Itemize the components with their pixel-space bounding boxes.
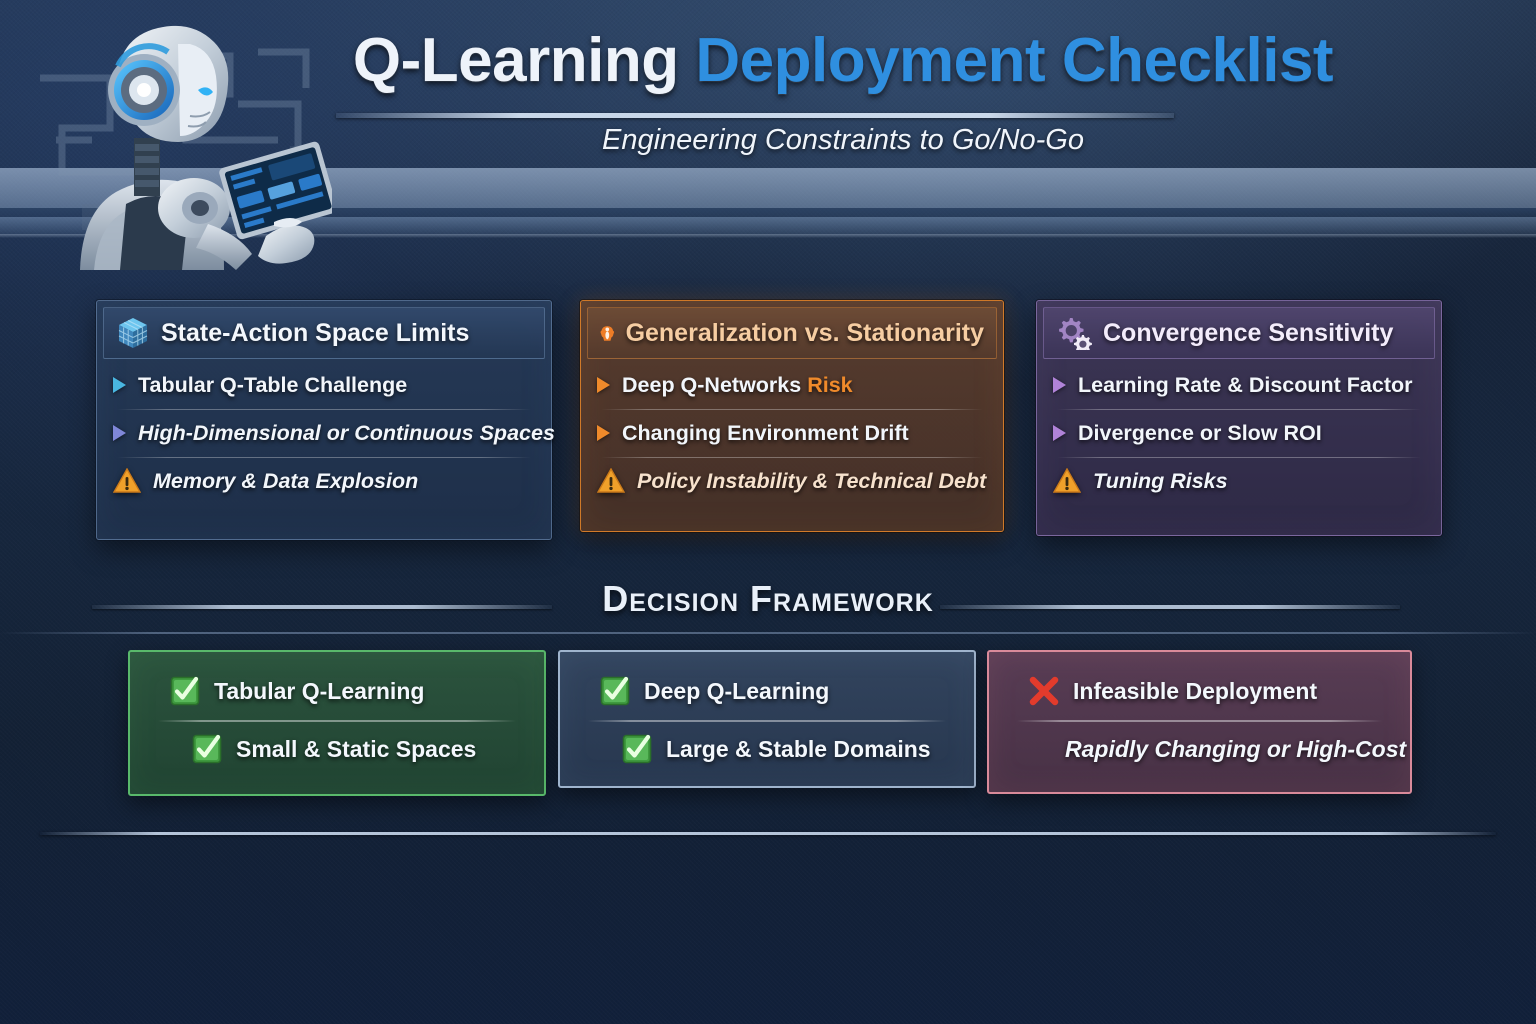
header-banner: Q-Learning Deployment Checklist Engineer… [0,0,1536,272]
list-item[interactable]: Tabular Q-Table Challenge [113,361,535,409]
warning-triangle-icon [1053,468,1081,494]
infographic-canvas: Q-Learning Deployment Checklist Engineer… [0,0,1536,1024]
page-subtitle: Engineering Constraints to Go/No-Go [0,124,1536,157]
card-convergence-sensitivity[interactable]: Convergence Sensitivity Learning Rate & … [1036,300,1442,536]
card-items: Learning Rate & Discount Factor Divergen… [1037,361,1441,529]
list-item-label: Tuning Risks [1093,469,1228,494]
warning-triangle-icon [597,468,625,494]
list-item-label: Memory & Data Explosion [153,469,418,494]
list-item[interactable]: Deep Q-Networks Risk [597,361,987,409]
green-check-box-icon [192,734,222,764]
list-item-label: Tabular Q-Table Challenge [138,373,407,398]
decision-card-tabular-q-learning[interactable]: Tabular Q-Learning Small & Static Spaces [128,650,546,796]
card-header: Generalization vs. Stationarity [587,307,997,359]
card-title: Convergence Sensitivity [1103,319,1393,348]
triangle-orange-icon [597,377,610,393]
green-check-box-icon [170,676,200,706]
page-title: Q-Learning Deployment Checklist [0,28,1536,93]
card-state-action-space-limits[interactable]: State-Action Space Limits Tabular Q-Tabl… [96,300,552,540]
card-title: Generalization vs. Stationarity [626,319,984,348]
list-item-label: Deep Q-Networks Risk [622,373,853,398]
title-secondary: Deployment Checklist [695,26,1333,95]
decision-row-label: Deep Q-Learning [644,678,829,705]
red-x-icon [1029,676,1059,706]
title-primary: Q-Learning [353,26,679,95]
highlight-risk: Risk [807,373,852,397]
triangle-orange-icon [597,425,610,441]
decision-framework-heading: Decision Framework [0,578,1536,636]
decision-card-infeasible-deployment[interactable]: Infeasible Deployment Rapidly Changing o… [987,650,1412,794]
list-item-label: High-Dimensional or Continuous Spaces [138,421,555,446]
list-item[interactable]: High-Dimensional or Continuous Spaces [113,409,535,457]
decision-row[interactable]: Small & Static Spaces [148,720,526,778]
gears-icon [1056,316,1092,350]
brain-icon [600,316,615,350]
constraint-cards-row: State-Action Space Limits Tabular Q-Tabl… [0,300,1536,548]
footer-divider [40,832,1496,835]
section-divider [0,632,1536,634]
decision-row[interactable]: Tabular Q-Learning [148,662,526,720]
list-item[interactable]: Divergence or Slow ROI [1053,409,1425,457]
triangle-violet-icon [1053,377,1066,393]
card-header: Convergence Sensitivity [1043,307,1435,359]
triangle-blue-icon [113,377,126,393]
decision-row[interactable]: Rapidly Changing or High-Cost [1007,720,1392,778]
decision-row-label: Tabular Q-Learning [214,678,424,705]
decision-row[interactable]: Large & Stable Domains [578,720,956,778]
decision-row-label: Infeasible Deployment [1073,678,1317,705]
section-title: Decision Framework [0,578,1536,620]
list-item[interactable]: Tuning Risks [1053,457,1425,505]
green-check-box-icon [600,676,630,706]
decision-cards-row: Tabular Q-Learning Small & Static Spaces [0,650,1536,802]
decision-row[interactable]: Deep Q-Learning [578,662,956,720]
list-item-label: Policy Instability & Technical Debt [637,469,986,494]
list-item-label: Divergence or Slow ROI [1078,421,1322,446]
decision-row-label: Rapidly Changing or High-Cost [1065,736,1406,763]
list-item-label: Changing Environment Drift [622,421,909,446]
decision-row-label: Small & Static Spaces [236,736,476,763]
triangle-violet-icon [1053,425,1066,441]
card-items: Tabular Q-Table Challenge High-Dimension… [97,361,551,533]
cube-icon [116,316,150,350]
green-check-box-icon [622,734,652,764]
card-generalization-vs-stationarity[interactable]: Generalization vs. Stationarity Deep Q-N… [580,300,1004,532]
card-header: State-Action Space Limits [103,307,545,359]
list-item[interactable]: Changing Environment Drift [597,409,987,457]
decision-card-deep-q-learning[interactable]: Deep Q-Learning Large & Stable Domains [558,650,976,788]
title-divider [336,113,1174,118]
warning-triangle-icon [113,468,141,494]
card-items: Deep Q-Networks Risk Changing Environmen… [581,361,1003,525]
list-item-label: Learning Rate & Discount Factor [1078,373,1413,398]
card-title: State-Action Space Limits [161,319,469,348]
decision-row[interactable]: Infeasible Deployment [1007,662,1392,720]
list-item[interactable]: Policy Instability & Technical Debt [597,457,987,505]
list-item[interactable]: Memory & Data Explosion [113,457,535,505]
list-item[interactable]: Learning Rate & Discount Factor [1053,361,1425,409]
triangle-purple-icon [113,425,126,441]
decision-row-label: Large & Stable Domains [666,736,931,763]
